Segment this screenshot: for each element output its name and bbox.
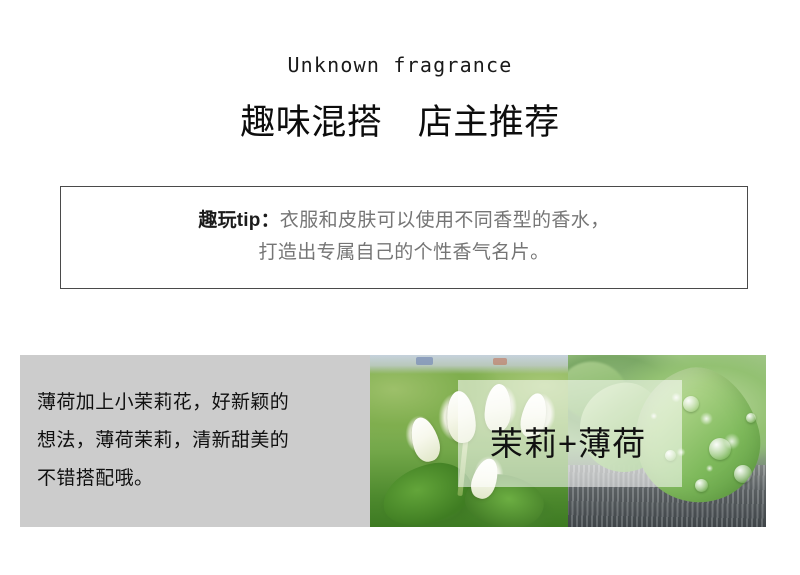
jasmine-photo-sky-spot (416, 357, 434, 366)
mint-photo-water-droplet (683, 396, 699, 412)
page-eyebrow: Unknown fragrance (0, 52, 800, 78)
tip-lead-label: 趣玩tip： (198, 210, 279, 231)
combo-caption-panel: 薄荷加上小茉莉花，好新颖的 想法，薄荷茉莉，清新甜美的 不错搭配哦。 (20, 355, 370, 527)
combo-caption-line: 薄荷加上小茉莉花，好新颖的 (37, 384, 370, 422)
tip-line-1: 趣玩tip：衣服和皮肤可以使用不同香型的香水， (198, 205, 609, 237)
combo-caption-line: 不错搭配哦。 (37, 460, 370, 498)
mint-photo-water-droplet (695, 479, 708, 492)
jasmine-photo-sky-spot (493, 358, 507, 365)
combo-caption-line: 想法，薄荷茉莉，清新甜美的 (37, 422, 370, 460)
mint-photo-water-droplet (709, 438, 731, 460)
tip-box: 趣玩tip：衣服和皮肤可以使用不同香型的香水， 打造出专属自己的个性香气名片。 (60, 186, 748, 289)
jasmine-photo-sky (370, 355, 568, 374)
combo-photo-pair: 茉莉+薄荷 (370, 355, 766, 527)
combo-media-strip: 薄荷加上小茉莉花，好新颖的 想法，薄荷茉莉，清新甜美的 不错搭配哦。 (20, 355, 766, 527)
combo-overlay-panel (458, 380, 682, 487)
tip-line-2: 打造出专属自己的个性香气名片。 (258, 237, 549, 269)
tip-line-1-body: 衣服和皮肤可以使用不同香型的香水， (280, 210, 610, 231)
page-title: 趣味混搭 店主推荐 (0, 100, 800, 146)
